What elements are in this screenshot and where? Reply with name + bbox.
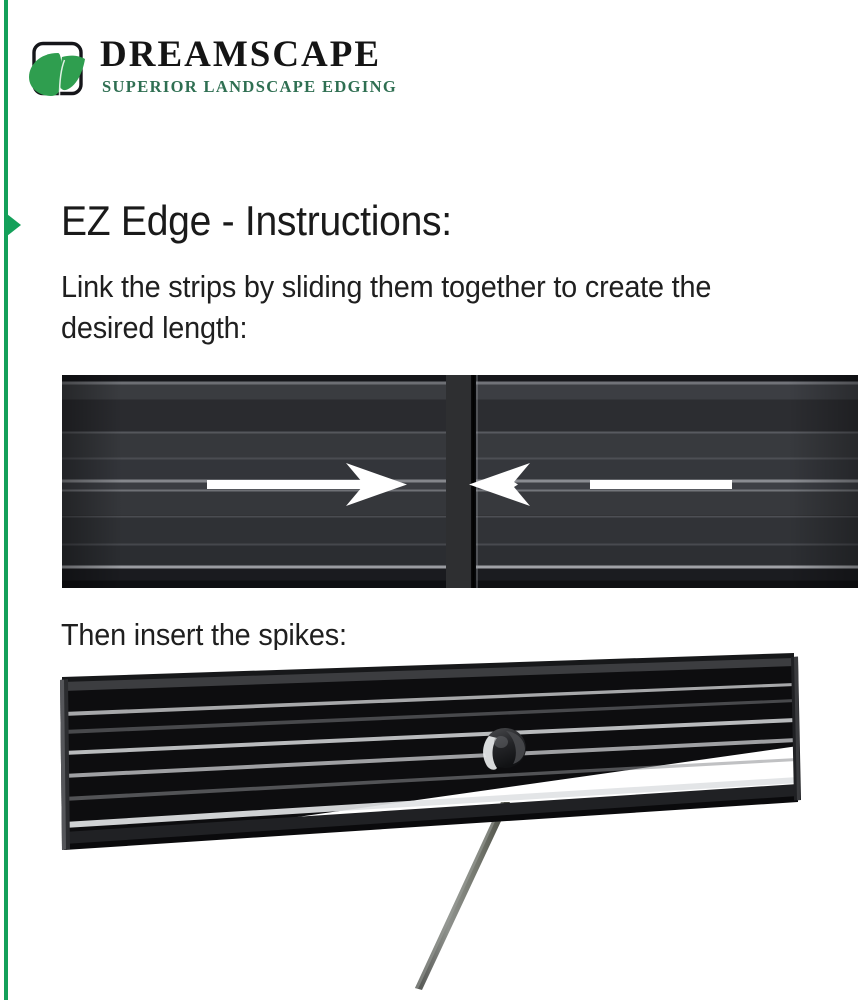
left-accent-rule [4,0,8,1000]
metal-spike [415,802,510,990]
arrow-left-icon [469,463,732,506]
brand-wordmark: DREAMSCAPE SUPERIOR LANDSCAPE EDGING [100,36,397,96]
brand-name: DREAMSCAPE [100,36,397,73]
step-one-text: Link the strips by sliding them together… [61,266,740,348]
page-root: DREAMSCAPE SUPERIOR LANDSCAPE EDGING EZ … [0,0,865,1000]
brand-tagline: SUPERIOR LANDSCAPE EDGING [102,79,397,96]
two-leaves-in-rounded-square-icon [28,40,90,104]
edging-strip-angled [60,653,801,850]
arrow-right-icon [207,463,407,506]
brand-logo: DREAMSCAPE SUPERIOR LANDSCAPE EDGING [28,38,408,110]
insert-spike-photo [58,650,858,1000]
right-pointing-triangle-marker-icon [7,214,21,236]
page-title: EZ Edge - Instructions: [61,200,452,243]
link-strips-photo [62,375,858,588]
step-two-text: Then insert the spikes: [61,616,347,653]
